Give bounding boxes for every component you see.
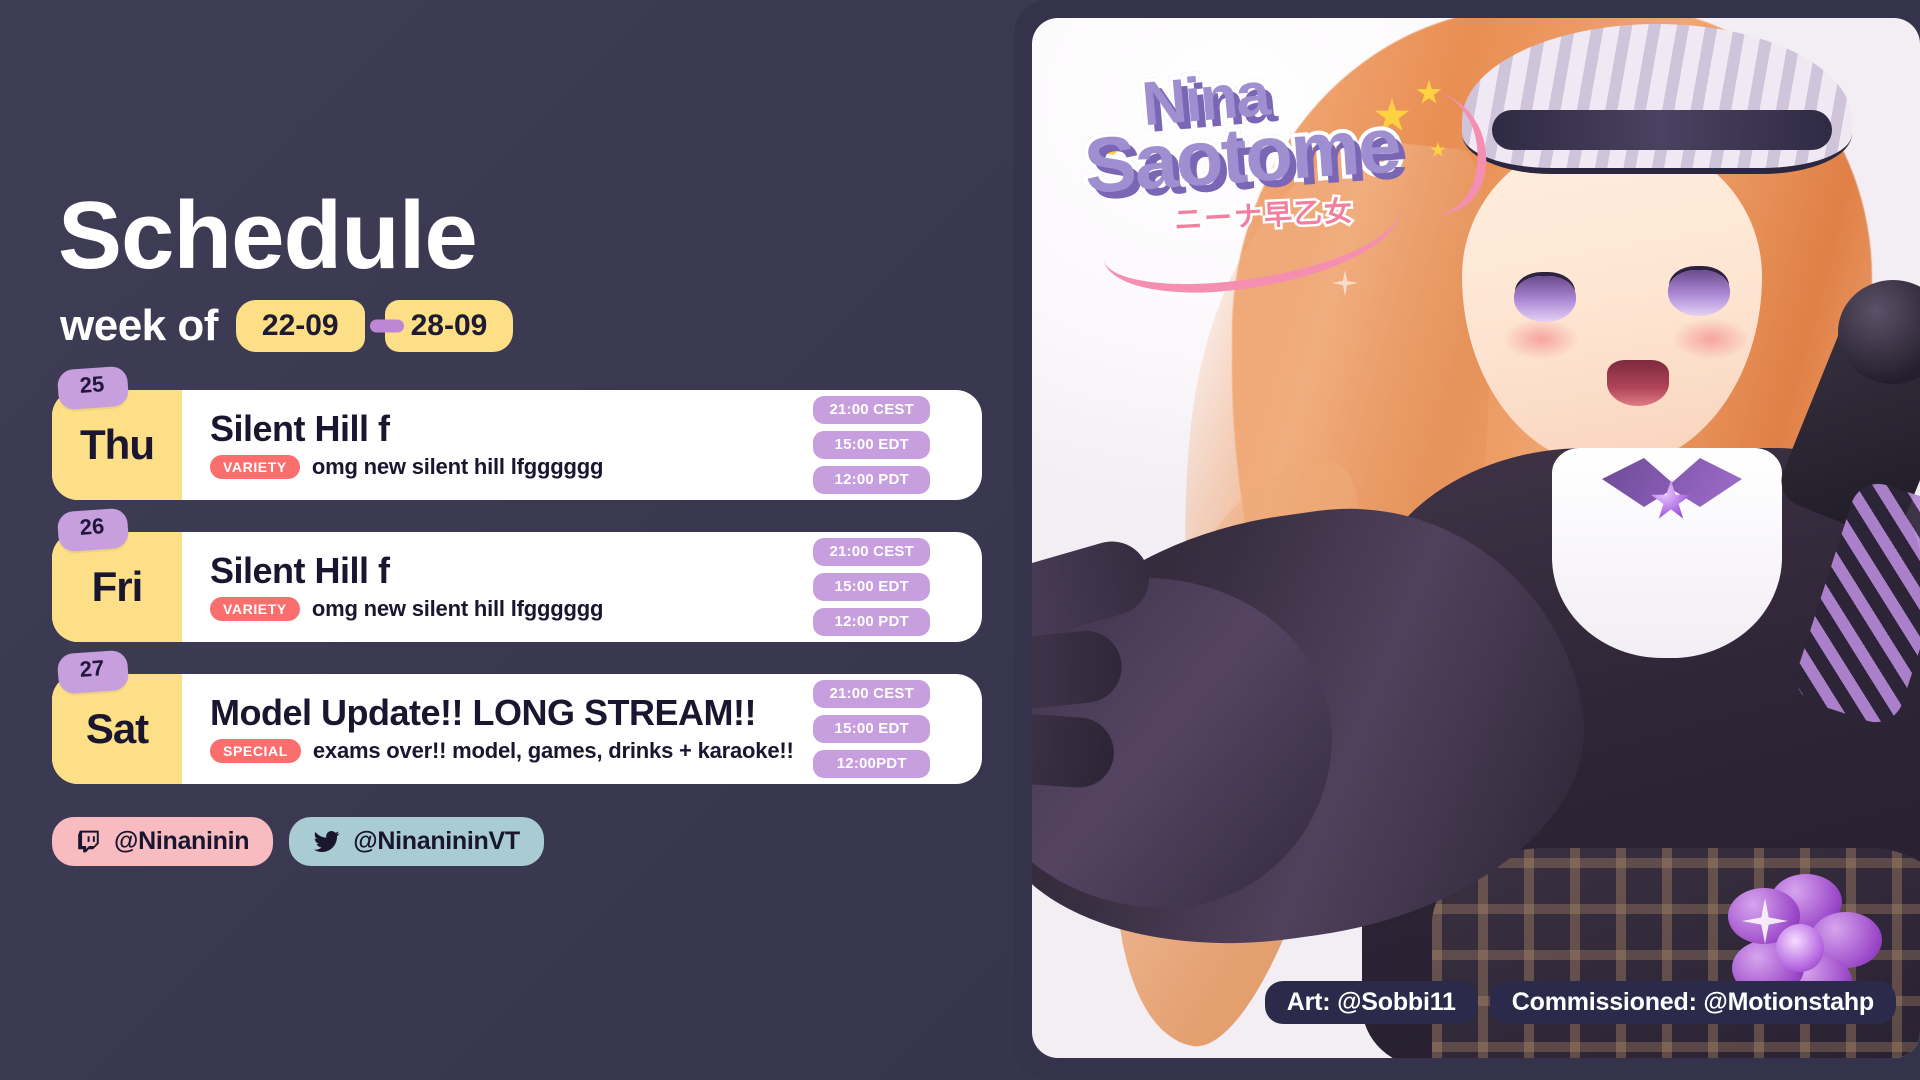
schedule-card[interactable]: Sat Model Update!! LONG STREAM!! SPECIAL… [52, 674, 982, 784]
time-pill-cest: 21:00 CEST [813, 538, 930, 566]
schedule-row[interactable]: Sat Model Update!! LONG STREAM!! SPECIAL… [52, 674, 982, 784]
blush-right [1672, 318, 1750, 360]
mouth-shape [1607, 360, 1669, 406]
stream-subline: SPECIAL exams over!! model, games, drink… [210, 738, 794, 764]
art-credit: Art: @Sobbi11 [1265, 981, 1478, 1024]
day-name: Fri [92, 563, 143, 611]
schedule-card[interactable]: Fri Silent Hill f VARIETY omg new silent… [52, 532, 982, 642]
art-panel: Nina Saotome ニーナ早乙女 Art: @Sobbi11 Commis… [1032, 18, 1920, 1058]
twitter-icon [313, 828, 341, 855]
card-texts: Silent Hill f VARIETY omg new silent hil… [210, 552, 603, 622]
time-pill-edt: 15:00 EDT [813, 715, 930, 743]
twitch-icon [76, 828, 102, 855]
date-start-pill: 22-09 [236, 300, 365, 352]
commission-credit: Commissioned: @Motionstahp [1490, 981, 1896, 1024]
twitter-link[interactable]: @NinanininVT [289, 817, 544, 866]
time-pill-pdt: 12:00PDT [813, 750, 930, 778]
time-pill-pdt: 12:00 PDT [813, 608, 930, 636]
eye-right [1668, 270, 1730, 316]
week-of-label: week of [60, 301, 218, 351]
stream-subline: VARIETY omg new silent hill lfgggggg [210, 596, 603, 622]
social-links: @Ninaninin @NinanininVT [52, 817, 544, 866]
day-name: Thu [80, 421, 154, 469]
left-column: Schedule week of 22-09 28-09 Thu Silent … [0, 0, 1020, 1080]
time-pill-group: 21:00 CEST 15:00 EDT 12:00 PDT [813, 396, 930, 494]
category-tag: VARIETY [210, 597, 300, 621]
card-body: Silent Hill f VARIETY omg new silent hil… [182, 390, 982, 500]
time-pill-edt: 15:00 EDT [813, 431, 930, 459]
art-frame: Nina Saotome ニーナ早乙女 Art: @Sobbi11 Commis… [1014, 0, 1920, 1080]
flower-center [1776, 924, 1824, 972]
card-body: Silent Hill f VARIETY omg new silent hil… [182, 532, 982, 642]
date-badge: 26 [57, 508, 130, 553]
card-texts: Model Update!! LONG STREAM!! SPECIAL exa… [210, 694, 794, 764]
time-pill-group: 21:00 CEST 15:00 EDT 12:00PDT [813, 680, 930, 778]
date-badge: 25 [57, 366, 130, 411]
time-pill-cest: 21:00 CEST [813, 396, 930, 424]
twitch-handle: @Ninaninin [114, 827, 249, 856]
schedule-graphic: Schedule week of 22-09 28-09 Thu Silent … [0, 0, 1920, 1080]
date-end-pill: 28-09 [385, 300, 514, 352]
stream-description: exams over!! model, games, drinks + kara… [313, 738, 794, 764]
stream-title: Silent Hill f [210, 552, 603, 590]
card-texts: Silent Hill f VARIETY omg new silent hil… [210, 410, 603, 480]
schedule-row[interactable]: Thu Silent Hill f VARIETY omg new silent… [52, 390, 982, 500]
stream-title: Silent Hill f [210, 410, 603, 448]
schedule-row[interactable]: Fri Silent Hill f VARIETY omg new silent… [52, 532, 982, 642]
card-body: Model Update!! LONG STREAM!! SPECIAL exa… [182, 674, 982, 784]
week-of-row: week of 22-09 28-09 [60, 300, 513, 352]
day-name: Sat [86, 705, 148, 753]
time-pill-group: 21:00 CEST 15:00 EDT 12:00 PDT [813, 538, 930, 636]
twitch-link[interactable]: @Ninaninin [52, 817, 273, 866]
time-pill-edt: 15:00 EDT [813, 573, 930, 601]
stream-subline: VARIETY omg new silent hill lfgggggg [210, 454, 603, 480]
twitter-handle: @NinanininVT [353, 827, 520, 856]
blush-left [1502, 318, 1580, 360]
stream-title: Model Update!! LONG STREAM!! [210, 694, 794, 732]
channel-logo: Nina Saotome ニーナ早乙女 [1078, 58, 1498, 248]
stream-description: omg new silent hill lfgggggg [312, 454, 603, 480]
schedule-list: Thu Silent Hill f VARIETY omg new silent… [52, 390, 982, 816]
date-badge: 27 [57, 650, 130, 695]
category-tag: VARIETY [210, 455, 300, 479]
time-pill-pdt: 12:00 PDT [813, 466, 930, 494]
category-tag: SPECIAL [210, 739, 301, 763]
credits-row: Art: @Sobbi11 Commissioned: @Motionstahp [1265, 981, 1896, 1024]
schedule-card[interactable]: Thu Silent Hill f VARIETY omg new silent… [52, 390, 982, 500]
time-pill-cest: 21:00 CEST [813, 680, 930, 708]
bonnet-band [1492, 110, 1832, 150]
date-range-dash-icon [370, 320, 404, 333]
page-title: Schedule [58, 188, 477, 284]
stream-description: omg new silent hill lfgggggg [312, 596, 603, 622]
date-range: 22-09 28-09 [236, 300, 513, 352]
eye-left [1514, 276, 1576, 322]
